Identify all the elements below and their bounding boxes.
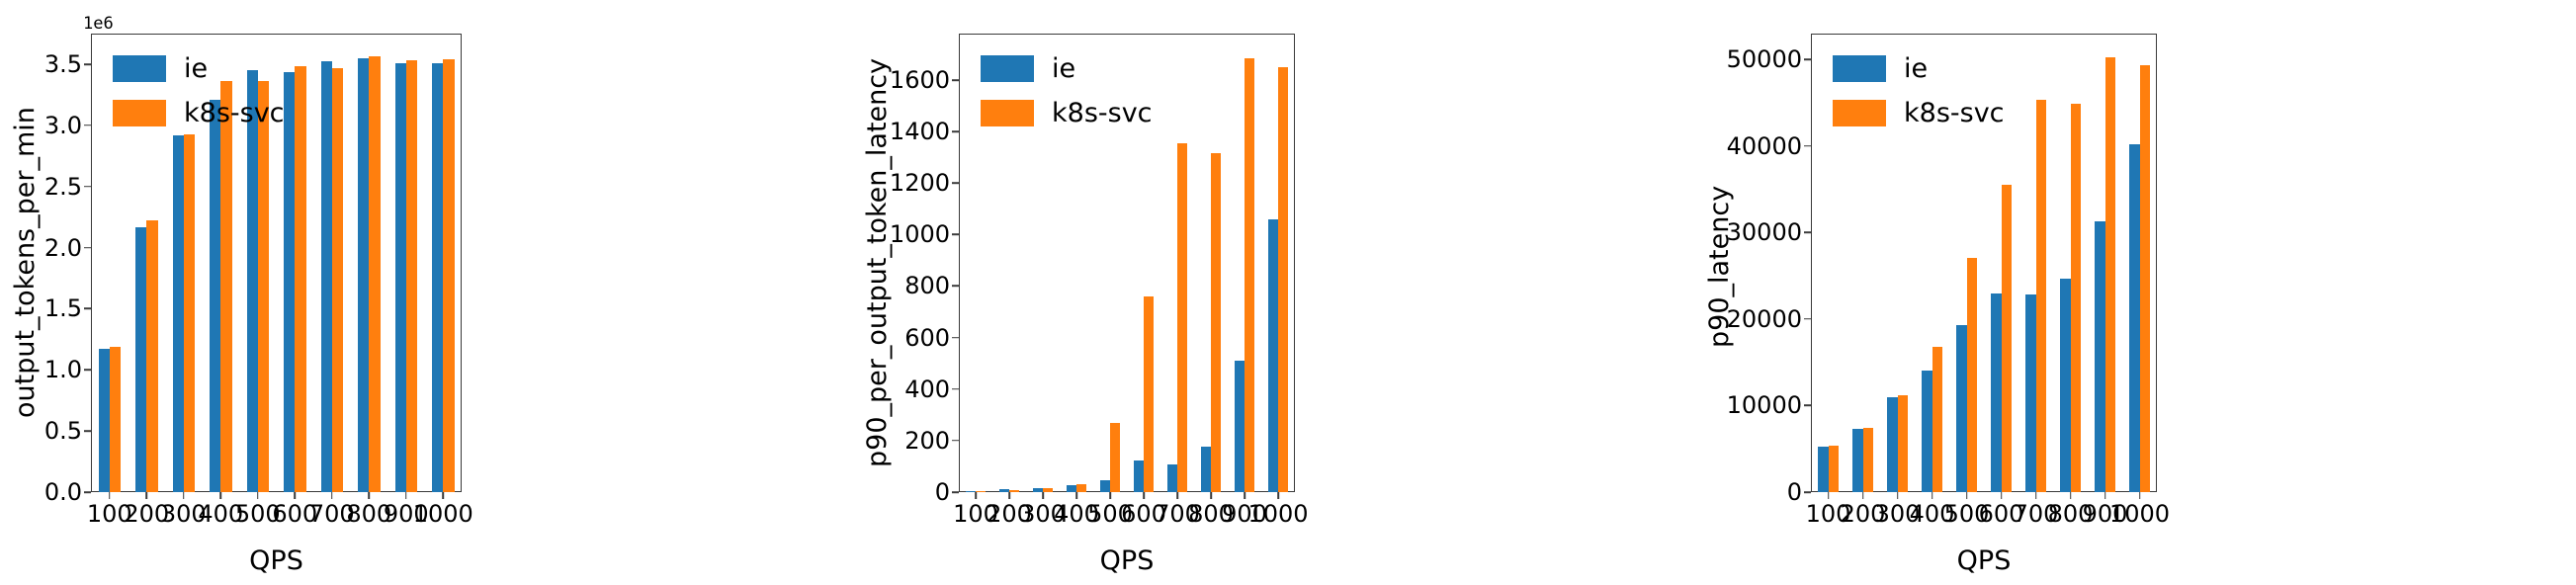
y-axis-tick-mark-1-7 [952,130,959,132]
x-axis-tick-mark-1-0 [975,492,977,499]
figure-container: 1e6 output_tokens_per_min QPS 0.00.51.01… [0,0,2576,585]
bar-k8s-svc-1000 [2140,65,2151,492]
legend-swatch-k8s-svc [981,100,1034,126]
bar-ie-400 [1067,485,1076,492]
x-axis-tick-mark-2-7 [2070,492,2072,499]
chart-panel-2: p90_latency QPS 010000200003000040000500… [1680,0,2576,585]
x-axis-tick-label-1-9: 1000 [1247,500,1308,528]
bar-ie-600 [1134,460,1144,492]
legend-label-k8s-svc: k8s-svc [184,98,285,128]
x-axis-tick-mark-1-6 [1176,492,1178,499]
y-axis-offset-text-0: 1e6 [83,14,114,34]
bar-k8s-svc-100 [110,347,121,492]
x-axis-tick-mark-2-9 [2139,492,2141,499]
bar-k8s-svc-200 [1009,490,1019,492]
y-axis-tick-mark-0-4 [84,247,91,249]
y-axis-tick-label-1-8: 1600 [890,66,959,94]
bar-ie-1000 [432,63,443,492]
y-axis-tick-mark-0-5 [84,186,91,188]
legend-item-ie[interactable]: ie [1833,53,2005,84]
x-axis-tick-mark-1-4 [1109,492,1111,499]
y-axis-tick-mark-2-5 [1804,58,1811,60]
y-axis-tick-mark-2-1 [1804,405,1811,407]
bar-ie-400 [1922,371,1932,492]
y-axis-tick-label-2-4: 40000 [1727,132,1811,160]
legend-label-ie: ie [1904,53,1928,84]
legend-label-k8s-svc: k8s-svc [1052,98,1153,128]
bar-ie-1000 [1268,219,1278,492]
legend-item-k8s-svc[interactable]: k8s-svc [113,98,285,128]
bar-ie-600 [1991,293,2002,492]
bar-ie-800 [1201,447,1211,492]
y-axis-tick-mark-2-4 [1804,145,1811,147]
x-axis-tick-mark-0-2 [183,492,185,499]
x-axis-label-0: QPS [91,545,462,576]
x-axis-label-1: QPS [959,545,1295,576]
y-axis-tick-label-2-3: 30000 [1727,218,1811,246]
x-axis-tick-mark-2-5 [2001,492,2003,499]
y-axis-tick-mark-1-2 [952,388,959,390]
bar-k8s-svc-700 [332,68,343,492]
y-axis-tick-mark-2-2 [1804,318,1811,320]
y-axis-tick-mark-1-5 [952,234,959,236]
x-axis-tick-mark-0-7 [368,492,370,499]
x-axis-label-2: QPS [1811,545,2157,576]
bar-ie-500 [1956,325,1967,492]
x-axis-tick-mark-1-9 [1277,492,1279,499]
y-axis-tick-mark-1-6 [952,182,959,184]
y-axis-tick-mark-0-3 [84,308,91,310]
y-axis-tick-mark-0-2 [84,369,91,371]
y-axis-tick-mark-2-3 [1804,232,1811,234]
bar-ie-800 [2060,279,2071,492]
x-axis-tick-mark-1-3 [1075,492,1077,499]
x-axis-tick-mark-1-1 [1008,492,1010,499]
x-axis-tick-mark-2-6 [2035,492,2037,499]
y-axis-tick-label-1-7: 1400 [890,118,959,145]
legend-label-ie: ie [1052,53,1075,84]
x-axis-tick-mark-0-6 [331,492,333,499]
y-axis-tick-mark-1-8 [952,79,959,81]
y-axis-tick-mark-0-1 [84,430,91,432]
bar-ie-500 [1100,480,1110,492]
y-axis-tick-label-2-1: 10000 [1727,391,1811,419]
bar-k8s-svc-600 [2002,185,2013,492]
bar-k8s-svc-500 [1967,258,1978,492]
y-axis-tick-mark-0-7 [84,63,91,65]
x-axis-tick-mark-0-9 [442,492,444,499]
bar-ie-300 [173,135,184,492]
chart-panel-0: 1e6 output_tokens_per_min QPS 0.00.51.01… [0,0,860,585]
bar-ie-600 [284,72,295,492]
y-axis-tick-mark-0-6 [84,125,91,126]
y-axis-tick-label-1-2: 400 [904,376,959,403]
bar-k8s-svc-1000 [1278,67,1288,492]
bar-k8s-svc-400 [220,81,231,492]
legend-1[interactable]: iek8s-svc [981,53,1153,142]
bar-k8s-svc-300 [184,134,195,492]
x-axis-tick-mark-2-3 [1932,492,1933,499]
bar-k8s-svc-200 [146,220,157,492]
bar-k8s-svc-900 [2105,57,2116,492]
y-axis-tick-mark-1-1 [952,440,959,442]
bar-ie-200 [135,227,146,492]
legend-swatch-ie [981,55,1034,82]
bar-ie-900 [1235,361,1245,492]
bar-k8s-svc-500 [1110,423,1120,492]
legend-label-ie: ie [184,53,208,84]
x-axis-tick-mark-0-8 [405,492,407,499]
bar-ie-300 [1887,397,1898,492]
bar-ie-900 [395,63,406,492]
bar-k8s-svc-300 [1043,488,1053,492]
legend-item-ie[interactable]: ie [113,53,285,84]
legend-item-k8s-svc[interactable]: k8s-svc [981,98,1153,128]
x-axis-tick-mark-0-3 [219,492,221,499]
legend-swatch-ie [113,55,166,82]
y-axis-label-0: output_tokens_per_min [10,34,41,492]
x-axis-tick-mark-2-8 [2104,492,2106,499]
bar-k8s-svc-600 [295,66,305,492]
y-axis-tick-label-1-4: 800 [904,272,959,299]
bar-ie-700 [1167,464,1177,492]
bar-k8s-svc-700 [1177,143,1187,492]
y-axis-tick-mark-1-4 [952,286,959,288]
y-axis-tick-label-2-2: 20000 [1727,305,1811,333]
bar-k8s-svc-100 [976,491,986,493]
x-axis-tick-label-0-9: 1000 [413,500,473,528]
legend-2[interactable]: iek8s-svc [1833,53,2005,142]
bar-ie-400 [210,100,220,492]
x-axis-tick-mark-2-1 [1862,492,1864,499]
bar-k8s-svc-900 [406,60,417,492]
y-axis-tick-label-1-3: 600 [904,324,959,352]
x-axis-tick-mark-0-1 [145,492,147,499]
legend-swatch-k8s-svc [1833,100,1886,126]
bar-k8s-svc-800 [1211,153,1221,492]
bar-k8s-svc-400 [1076,484,1086,492]
bar-k8s-svc-400 [1932,347,1943,492]
x-axis-tick-mark-2-4 [1966,492,1968,499]
bar-k8s-svc-200 [1863,428,1874,492]
bar-k8s-svc-500 [258,81,269,492]
bar-k8s-svc-100 [1829,446,1840,492]
legend-item-k8s-svc[interactable]: k8s-svc [1833,98,2005,128]
bar-k8s-svc-1000 [443,59,454,492]
legend-swatch-k8s-svc [113,100,166,126]
bar-ie-700 [2025,294,2036,492]
x-axis-tick-mark-0-4 [257,492,259,499]
bar-k8s-svc-700 [2036,100,2047,492]
bar-k8s-svc-800 [369,56,380,492]
y-axis-tick-label-1-1: 200 [904,427,959,455]
legend-swatch-ie [1833,55,1886,82]
x-axis-tick-label-2-9: 1000 [2109,500,2170,528]
legend-item-ie[interactable]: ie [981,53,1153,84]
bar-k8s-svc-800 [2071,104,2082,492]
x-axis-tick-mark-1-2 [1042,492,1044,499]
y-axis-tick-label-1-6: 1200 [890,169,959,197]
y-axis-tick-mark-0-0 [84,491,91,493]
bar-k8s-svc-600 [1144,296,1154,492]
y-axis-tick-label-1-5: 1000 [890,220,959,248]
bar-k8s-svc-900 [1245,58,1254,492]
bar-ie-1000 [2129,144,2140,492]
y-axis-tick-mark-1-0 [952,491,959,493]
x-axis-tick-mark-0-5 [294,492,296,499]
x-axis-tick-mark-1-8 [1244,492,1245,499]
bar-ie-100 [99,349,110,492]
x-axis-tick-mark-0-0 [109,492,111,499]
bar-k8s-svc-300 [1898,395,1909,492]
bar-ie-800 [358,58,369,492]
bar-ie-200 [1852,429,1863,492]
x-axis-tick-mark-1-7 [1210,492,1212,499]
y-axis-label-1: p90_per_output_token_latency [862,14,893,512]
chart-panel-1: p90_per_output_token_latency QPS 0200400… [860,0,1680,585]
y-axis-tick-mark-2-0 [1804,491,1811,493]
x-axis-tick-mark-2-0 [1828,492,1830,499]
y-axis-tick-mark-1-3 [952,337,959,339]
legend-label-k8s-svc: k8s-svc [1904,98,2005,128]
bar-ie-700 [321,61,332,492]
bar-ie-100 [1818,447,1829,492]
bar-ie-900 [2095,221,2105,492]
x-axis-tick-mark-1-5 [1143,492,1145,499]
legend-0[interactable]: iek8s-svc [113,53,285,142]
x-axis-tick-mark-2-2 [1897,492,1899,499]
y-axis-tick-label-2-5: 50000 [1727,45,1811,73]
